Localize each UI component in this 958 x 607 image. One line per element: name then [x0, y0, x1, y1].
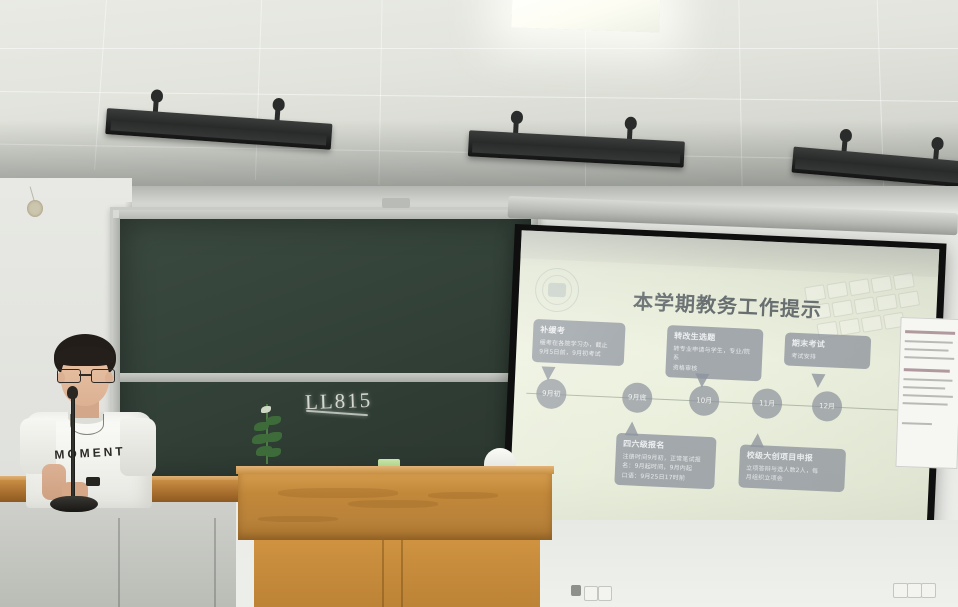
wristwatch [86, 477, 100, 486]
slide-bubble-below-1: 四六级报名 注册时间9月初，正常笔试报 名：9月起时间，9月内起 口语：9月25… [614, 433, 716, 489]
classroom-scene: LL815 [0, 0, 958, 607]
glasses [57, 369, 113, 381]
wall-hook [27, 200, 43, 217]
microphone-icon [67, 386, 78, 399]
wall-outlet-5[interactable] [921, 583, 936, 598]
timeline-node-4: 11月 [751, 388, 782, 419]
bubble-title: 转改生选题 [674, 330, 756, 345]
wall-outlet-4[interactable] [907, 583, 922, 598]
timeline-node-2: 9月底 [622, 382, 653, 413]
wall-outlet-3[interactable] [893, 583, 908, 598]
bubble-title: 校级大创项目申报 [746, 450, 838, 465]
slide-bubble-above-2: 转改生选题 转专业申请与学生，专业/院系 资格审核 [665, 325, 763, 381]
bubble-title: 四六级报名 [623, 438, 709, 453]
potted-plant [252, 404, 282, 468]
microphone-base [50, 496, 98, 512]
ceiling-light-panel [511, 0, 660, 33]
presenter: MOMENT [16, 334, 162, 506]
wall-outlet-2[interactable] [598, 586, 612, 601]
wall-outlet-1[interactable] [584, 586, 598, 601]
slide-bubble-above-3: 期末考试 考试安排 [784, 332, 871, 369]
microphone-stem [71, 392, 75, 504]
timeline-node-1: 9月初 [536, 378, 567, 409]
blackboard-sensor [382, 198, 410, 208]
slide-surface: 本学期教务工作提示 9月初 9月底 10月 11月 12月 补缓考 缓考在各院学… [508, 230, 939, 555]
bubble-title: 期末考试 [792, 338, 864, 352]
slide-bubble-above-1: 补缓考 缓考在各院学习办，截止 9月5日前，9月初考试 [532, 319, 626, 366]
blackboard [110, 207, 541, 495]
timeline-node-5: 12月 [811, 391, 842, 422]
projection-screen[interactable]: 本学期教务工作提示 9月初 9月底 10月 11月 12月 补缓考 缓考在各院学… [500, 224, 946, 563]
bubble-title: 补缓考 [540, 324, 618, 339]
timeline-node-3: 10月 [689, 385, 720, 416]
bubble-line: 考试安排 [791, 352, 863, 365]
timeline-axis [526, 393, 920, 412]
slide-bubble-below-2: 校级大创项目申报 立项答辩与选人数2人，每 月组织立项会 [738, 444, 846, 491]
wall-notice-poster [895, 317, 958, 469]
wall-switch[interactable] [571, 585, 581, 596]
podium[interactable] [236, 466, 554, 607]
